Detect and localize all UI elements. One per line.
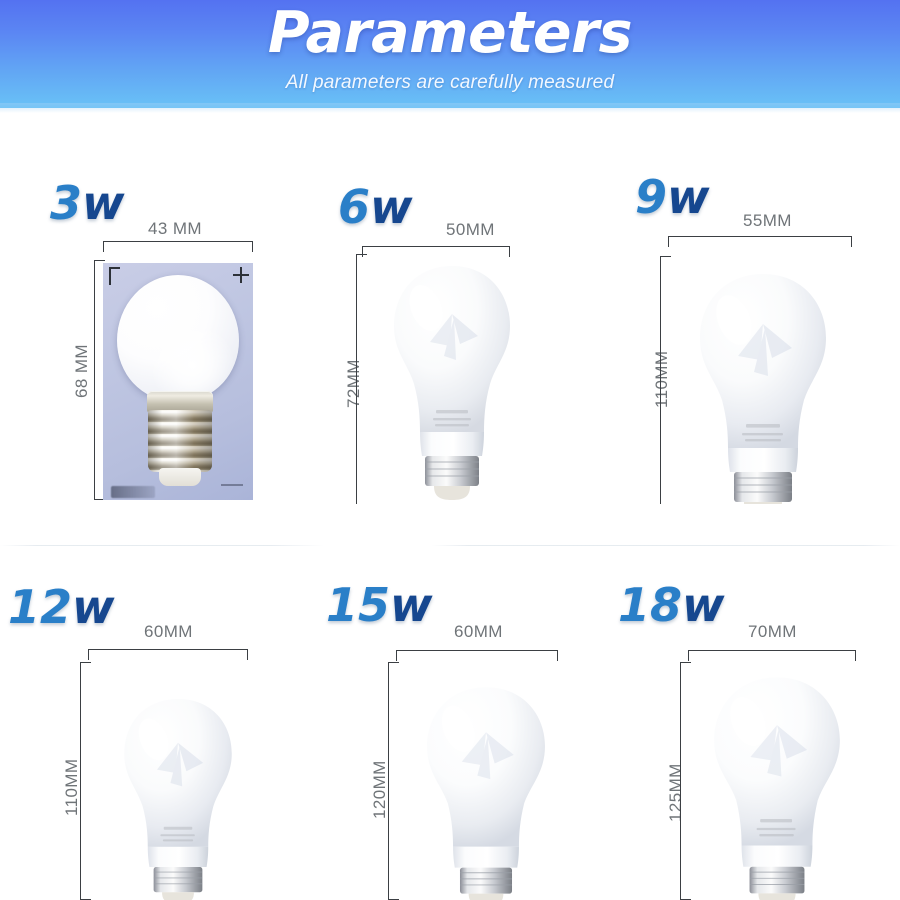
watt-number: 9	[635, 170, 667, 224]
bulb-screw-base	[750, 867, 805, 894]
bulb-svg	[106, 694, 250, 900]
height-label-12w: 110MM	[62, 759, 82, 816]
bulb-base-tip	[159, 468, 201, 486]
bulb-illustration-6w	[386, 260, 518, 504]
height-bracket-15w	[388, 662, 399, 900]
bulb-screw-base	[734, 472, 792, 502]
bulb-neck	[453, 847, 519, 868]
watt-unit: w	[390, 578, 433, 632]
width-bracket-18w	[688, 650, 856, 661]
width-label-18w: 70MM	[748, 622, 797, 642]
spec-cell-9w: 9w 55MM 110MM	[600, 108, 900, 504]
watt-label-15w: 15w	[326, 582, 433, 628]
width-label-6w: 50MM	[446, 220, 495, 240]
width-label-3w: 43 MM	[148, 219, 202, 239]
watt-label-6w: 6w	[338, 184, 413, 230]
bulb-neck	[420, 432, 484, 456]
photo-artifact	[111, 486, 155, 498]
spec-cell-12w: 12w 60MM 110MM	[0, 504, 300, 900]
watt-unit: w	[370, 180, 413, 234]
bulb-base-tip	[758, 893, 795, 900]
bulb-screw-base	[154, 867, 203, 892]
height-label-15w: 120MM	[370, 760, 390, 819]
width-label-9w: 55MM	[743, 211, 792, 231]
watt-number: 15	[326, 578, 390, 632]
bulb-illustration-9w	[692, 268, 834, 504]
height-bracket-12w	[80, 662, 91, 900]
width-bracket-6w	[362, 246, 510, 257]
bulb-photo-3w	[103, 263, 253, 500]
photo-artifact-2	[221, 484, 243, 486]
height-bracket-18w	[680, 662, 691, 900]
product-spec-grid: 3w 43 MM 68 MM 6w	[0, 108, 900, 900]
watt-number: 3	[50, 176, 82, 230]
bulb-illustration-12w	[106, 694, 250, 900]
bulb-neck	[742, 846, 813, 867]
watt-label-12w: 12w	[8, 584, 115, 630]
watt-label-18w: 18w	[618, 582, 725, 628]
watt-number: 6	[338, 180, 370, 234]
watt-label-9w: 9w	[635, 174, 710, 220]
watt-unit: w	[82, 176, 125, 230]
bulb-neck	[728, 448, 798, 472]
bulb-svg	[698, 672, 856, 900]
parameters-page: Parameters All parameters are carefully …	[0, 0, 900, 900]
bulb-illustration-18w	[698, 672, 856, 900]
bulb-svg	[692, 268, 834, 504]
bulb-base-tip	[434, 486, 470, 500]
bulb-illustration-15w	[410, 682, 562, 900]
bulb-screw-base	[425, 456, 479, 486]
page-subtitle: All parameters are carefully measured	[0, 72, 900, 94]
page-header-banner: Parameters All parameters are carefully …	[0, 0, 900, 108]
crop-mark-left-icon	[109, 267, 120, 285]
bulb-glass	[117, 275, 239, 401]
bulb-base-tip	[162, 892, 194, 900]
crop-mark-right-icon	[233, 267, 249, 283]
watt-number: 12	[8, 580, 72, 634]
spec-cell-15w: 15w 60MM 120MM	[300, 504, 600, 900]
watt-unit: w	[667, 170, 710, 224]
width-bracket-3w	[103, 241, 253, 252]
bulb-screw-base	[148, 410, 212, 472]
watt-label-3w: 3w	[50, 180, 125, 226]
bulb-svg	[410, 682, 562, 900]
watt-unit: w	[682, 578, 725, 632]
page-title: Parameters	[0, 4, 900, 64]
bulb-screw-base	[460, 868, 512, 894]
width-label-15w: 60MM	[454, 622, 503, 642]
width-label-12w: 60MM	[144, 622, 193, 642]
watt-unit: w	[72, 580, 115, 634]
bulb-neck	[148, 847, 208, 867]
spec-cell-18w: 18w 70MM 125MM	[600, 504, 900, 900]
spec-cell-3w: 3w 43 MM 68 MM	[0, 108, 300, 504]
bulb-svg	[386, 260, 518, 504]
height-label-3w: 68 MM	[72, 344, 92, 398]
width-bracket-15w	[396, 650, 558, 661]
width-bracket-9w	[668, 236, 852, 247]
height-bracket-6w	[356, 254, 367, 504]
watt-number: 18	[618, 578, 682, 632]
bulb-base-tip	[469, 894, 504, 900]
height-bracket-9w	[660, 256, 671, 504]
width-bracket-12w	[88, 649, 248, 660]
spec-cell-6w: 6w 50MM 72MM	[300, 108, 600, 504]
